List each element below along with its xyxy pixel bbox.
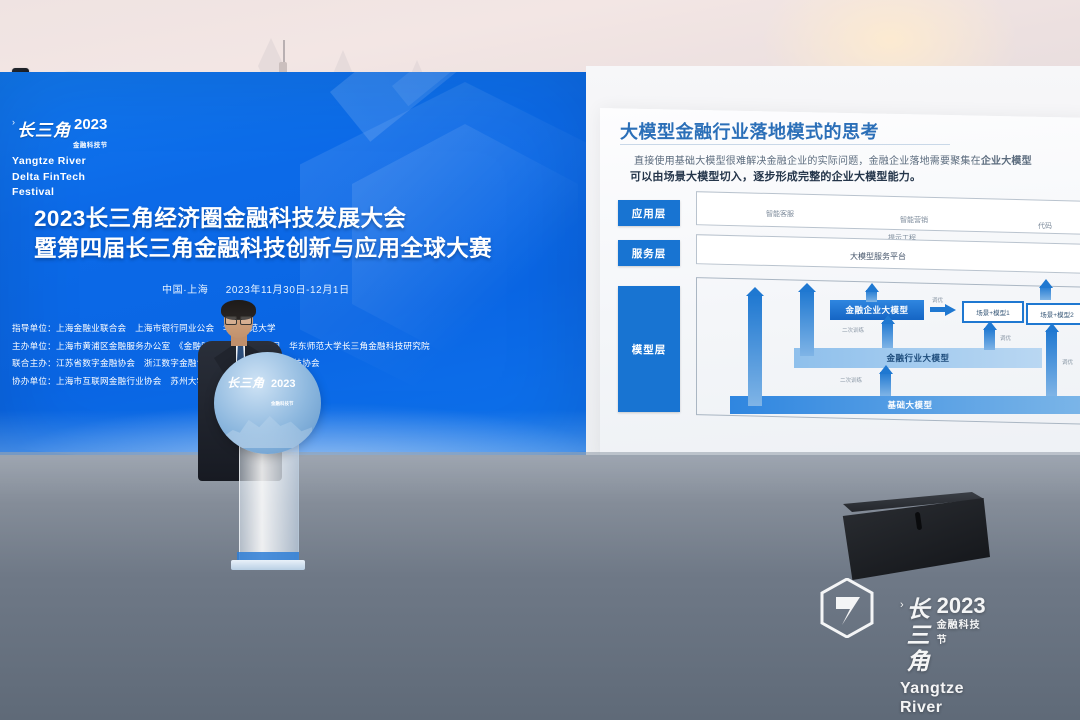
podium-skyline-graphic [224, 408, 312, 448]
presentation-screen: 大模型金融行业落地模式的思考 直接使用基础大模型很难解决金融企业的实际问题，金融… [600, 108, 1080, 470]
logo-arrow-icon: › [12, 116, 15, 129]
podium-logo-sub: 金融科技节 [271, 401, 294, 406]
podium-logo-year: 2023 [271, 378, 295, 390]
watermark-year: 2023 [937, 596, 986, 616]
event-location: 中国·上海 [162, 285, 208, 296]
conference-photo: › 长三角 2023 金融科技节 Yangtze River Delta Fin… [0, 0, 1080, 720]
logo-en-line2: Delta FinTech [12, 171, 152, 184]
up-arrow-to-app [1040, 286, 1051, 300]
podium-base [231, 560, 305, 570]
application-layer-row [696, 191, 1080, 235]
arrow-label-tuning: 调优 [1062, 358, 1073, 366]
slide-paragraph-1: 直接使用基础大模型很难解决金融企业的实际问题，金融企业落地需要聚集在企业大模型 [634, 152, 1032, 167]
event-location-date: 中国·上海 2023年11月30日-12月1日 [162, 281, 364, 296]
watermark-cn-subtitle: 金融科技节 [937, 616, 986, 646]
up-arrow-secondary-training-2 [880, 372, 891, 396]
logo-en-line3: Festival [12, 186, 152, 199]
app-item-smart-service: 智能客服 [766, 209, 794, 219]
arrow-label-secondary-training: 二次训练 [842, 326, 864, 334]
arrow-label-secondary-training: 二次训练 [840, 376, 862, 384]
scene-model-box-1: 场景+模型1 [962, 301, 1024, 323]
scene-model-box-2: 场景+模型2 [1026, 303, 1080, 325]
watermark-cn-name: 长三角 [907, 596, 932, 674]
festival-hexagon-icon [820, 578, 874, 638]
up-arrow-secondary-training [882, 322, 893, 348]
model-industry-llm: 金融行业大模型 [794, 348, 1042, 368]
tuning-arrow-tail [930, 307, 946, 312]
watermark-en-line1: Yangtze River [900, 679, 986, 717]
slide-title: 大模型金融行业落地模式的思考 [620, 118, 879, 144]
logo-year: 2023 [74, 116, 107, 133]
logo-en-line1: Yangtze River [12, 155, 152, 168]
event-title-line1: 2023长三角经济圈金融科技发展大会 [34, 205, 554, 233]
slide-paragraph-2: 可以由场景大模型切入，逐步形成完整的企业大模型能力。 [630, 168, 921, 184]
watermark-arrow-icon: › [900, 596, 904, 614]
slide-title-rule [620, 144, 950, 145]
big-up-arrow [748, 294, 762, 406]
festival-logo: › 长三角 2023 金融科技节 Yangtze River Delta Fin… [12, 116, 152, 199]
tuning-arrow-head [945, 304, 956, 316]
service-item-platform: 大模型服务平台 [850, 251, 906, 262]
layer-tag-model: 模型层 [618, 286, 680, 412]
layer-tag-service: 服务层 [618, 240, 680, 266]
up-arrow-tuning-1 [984, 328, 995, 350]
big-up-arrow [800, 290, 814, 356]
event-dates: 2023年11月30日-12月1日 [226, 285, 350, 296]
app-item-smart-marketing: 智能营销 [900, 215, 928, 225]
event-title: 2023长三角经济圈金融科技发展大会 暨第四届长三角金融科技创新与应用全球大赛 [34, 205, 554, 263]
arrow-label-tuning: 调优 [1000, 334, 1011, 342]
podium-logo-panel: 长三角 2023 金融科技节 [214, 352, 321, 454]
podium-logo: 长三角 2023 金融科技节 [227, 374, 295, 410]
arrow-label-tuning: 调优 [932, 296, 943, 304]
app-item-code: 代码 [1038, 221, 1052, 231]
podium-logo-cn: 长三角 [227, 376, 265, 390]
model-enterprise-llm: 金融企业大模型 [830, 300, 924, 320]
stage-edge [0, 452, 1080, 457]
slide-paragraph-1-text: 直接使用基础大模型很难解决金融企业的实际问题，金融企业落地需要聚集在 [634, 156, 981, 167]
logo-cn-subtitle: 金融科技节 [73, 142, 108, 149]
logo-cn-name: 长三角 [17, 116, 71, 141]
slide-paragraph-1-highlight: 企业大模型 [981, 156, 1032, 167]
up-arrow-tuning-2 [1046, 330, 1057, 396]
model-foundation-llm: 基础大模型 [730, 396, 1080, 414]
layer-tag-application: 应用层 [618, 200, 680, 226]
up-arrow-to-service [866, 290, 877, 302]
speaker-glasses-icon [225, 316, 252, 323]
event-title-line2: 暨第四届长三角金融科技创新与应用全球大赛 [34, 235, 554, 263]
